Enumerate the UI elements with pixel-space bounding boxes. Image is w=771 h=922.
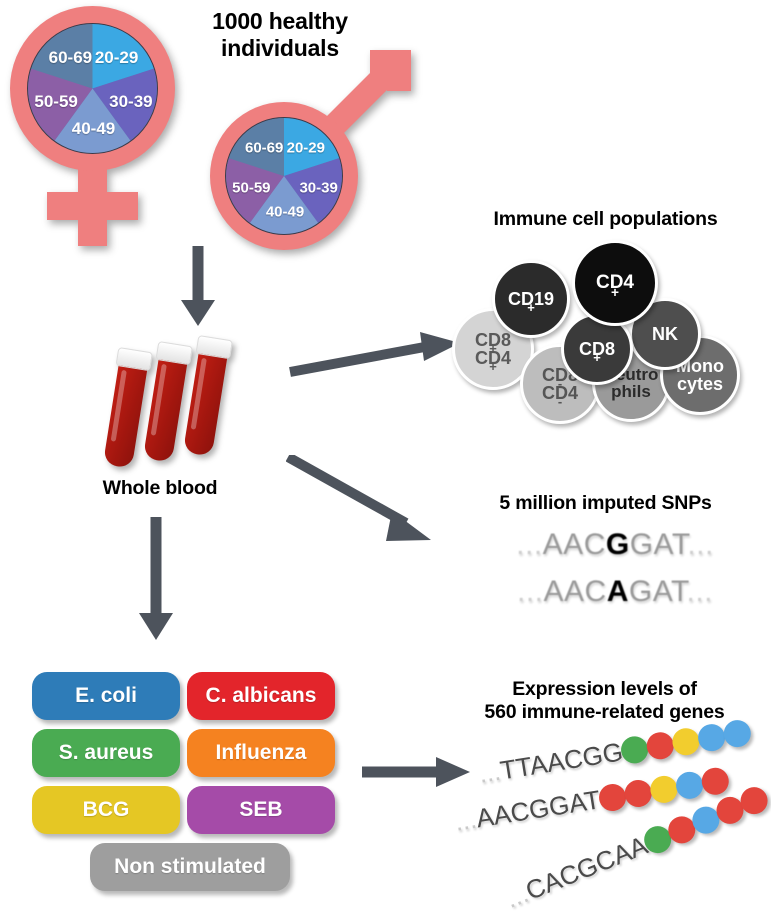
cell-label-line2: phils (604, 383, 659, 400)
snp-sequence-group: ...AACGGAT... ...AACAGAT... (470, 528, 760, 618)
stimulus-label: C. albicans (206, 684, 317, 708)
stimulus-pill-bcg[interactable]: BCG (32, 786, 180, 834)
female-gender-symbol: 20-2930-3940-4950-5960-69 (10, 6, 175, 246)
blood-tube (103, 347, 150, 468)
arrow-blood-to-snp (286, 455, 446, 547)
stimulus-pill-e-coli[interactable]: E. coli (32, 672, 180, 720)
stimulus-pill-non-stimulated[interactable]: Non stimulated (90, 843, 290, 891)
cell-label-line1: CD8+ (475, 331, 511, 349)
stimulus-pill-influenza[interactable]: Influenza (187, 729, 335, 777)
stimulus-label: E. coli (75, 684, 137, 708)
stimulus-label: BCG (83, 798, 130, 822)
pie-segment-60-69 (226, 118, 342, 234)
cell-label-line1: NK (652, 325, 678, 343)
gene-bead (648, 774, 679, 805)
gene-bead (722, 718, 753, 749)
gene-bead (697, 722, 728, 753)
cell-label-line1: CD8+ (579, 340, 615, 358)
age-distribution-pie-female: 20-2930-3940-4950-5960-69 (27, 23, 158, 154)
gene-strand-sequence: ...TTAACGG (477, 736, 625, 789)
strand-lead-dots: ... (501, 878, 532, 914)
strand-lead-dots: ... (453, 804, 479, 837)
snp-variant-allele: G (606, 528, 630, 561)
cell-label-line1: CD4+ (596, 273, 634, 292)
gene-bead (700, 766, 731, 797)
expression-title-line1: Expression levels of (438, 678, 771, 701)
snp-title: 5 million imputed SNPs (440, 492, 771, 515)
stimulus-label: S. aureus (59, 741, 154, 765)
pie-segment-60-69 (28, 24, 157, 153)
snp-sequence-row: ...AACAGAT... (470, 575, 760, 609)
gene-bead (671, 726, 702, 757)
immune-cell-cluster: CD4+CD19+CD8+NKMonocytesNeutrophilsCD8-C… (452, 240, 771, 430)
cell-label-line1: CD19+ (508, 290, 554, 308)
pie-label-60-69: 60-69 (49, 48, 92, 68)
snp-prefix: AAC (544, 575, 607, 608)
snp-variant-allele: A (607, 575, 629, 608)
stimulus-label: SEB (239, 798, 282, 822)
stimulus-label: Non stimulated (114, 855, 266, 879)
pie-label-60-69: 60-69 (245, 140, 283, 157)
gene-bead (623, 778, 654, 809)
snp-lead-dots: ... (517, 575, 544, 608)
snp-sequence-row: ...AACGGAT... (470, 528, 760, 562)
immune-cell-cd19-pos: CD19+ (492, 260, 570, 338)
whole-blood-tubes (108, 335, 243, 470)
expression-strand-group: ...TTAACGG...AACGGAT...CACGCAA (455, 735, 771, 920)
diagram-canvas: 1000 healthy individuals 20-2930-3940-49… (0, 0, 771, 922)
cell-label-line2: cytes (676, 375, 724, 393)
arrow-cohort-to-blood (168, 246, 228, 328)
strand-lead-dots: ... (477, 756, 503, 789)
whole-blood-label: Whole blood (60, 477, 260, 500)
male-gender-symbol: 20-2930-3940-4950-5960-69 (196, 50, 421, 240)
stimulus-pill-s-aureus[interactable]: S. aureus (32, 729, 180, 777)
gene-strand-sequence: ...AACGGAT (453, 784, 603, 838)
gene-bead (645, 730, 676, 761)
expression-title: Expression levels of 560 immune-related … (438, 678, 771, 723)
cell-label-line2: CD4- (542, 384, 578, 402)
stimulus-label: Influenza (215, 741, 306, 765)
age-distribution-pie-male: 20-2930-3940-4950-5960-69 (225, 117, 343, 235)
stimuli-panel: E. coliC. albicansS. aureusInfluenzaBCGS… (32, 672, 362, 902)
stimulus-pill-seb[interactable]: SEB (187, 786, 335, 834)
snp-suffix: GAT (629, 575, 687, 608)
snp-trail-dots: ... (686, 575, 713, 608)
snp-lead-dots: ... (516, 528, 543, 561)
arrow-blood-to-immune (288, 330, 463, 380)
arrow-blood-to-stimuli (128, 517, 188, 642)
cell-label-line2: CD4+ (475, 349, 511, 367)
stimulus-pill-c-albicans[interactable]: C. albicans (187, 672, 335, 720)
snp-prefix: AAC (543, 528, 606, 561)
snp-trail-dots: ... (687, 528, 714, 561)
immune-populations-title: Immune cell populations (440, 208, 771, 231)
cohort-title-line1: 1000 healthy (165, 8, 395, 35)
immune-cell-cd4-pos: CD4+ (572, 240, 658, 326)
snp-suffix: GAT (630, 528, 688, 561)
female-symbol-cross (47, 192, 138, 220)
gene-bead (674, 770, 705, 801)
gene-strand-sequence: ...CACGCAA (501, 830, 652, 915)
